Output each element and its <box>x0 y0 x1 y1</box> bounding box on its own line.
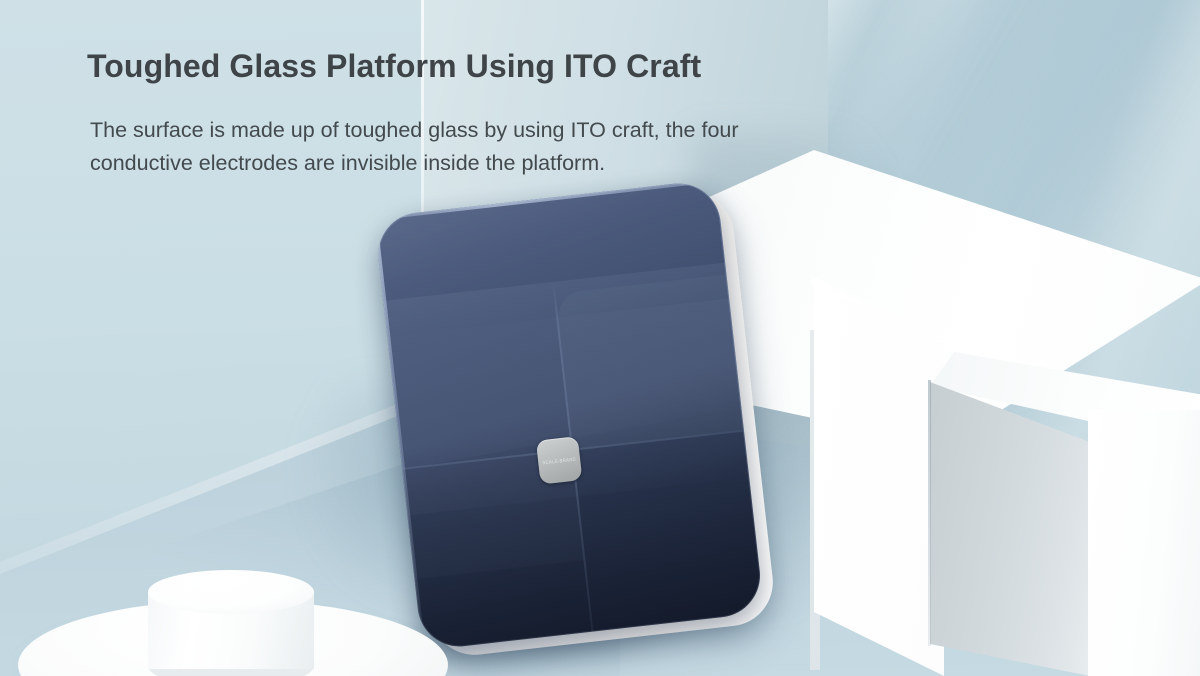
pedestal-small-back-seam <box>928 380 931 646</box>
product-feature-scene: scale-brand Toughed Glass Platform Using… <box>0 0 1200 676</box>
pedestal-small-right-face <box>1088 410 1200 676</box>
glass-bottom-vignette <box>400 414 764 651</box>
scale-glass-platform: scale-brand <box>374 179 764 651</box>
page-description: The surface is made up of toughed glass … <box>90 114 832 181</box>
smart-scale: scale-brand <box>374 177 782 666</box>
copy-block: Toughed Glass Platform Using ITO Craft T… <box>87 48 887 181</box>
page-title: Toughed Glass Platform Using ITO Craft <box>87 48 887 86</box>
cylinder-top-face <box>148 570 314 614</box>
